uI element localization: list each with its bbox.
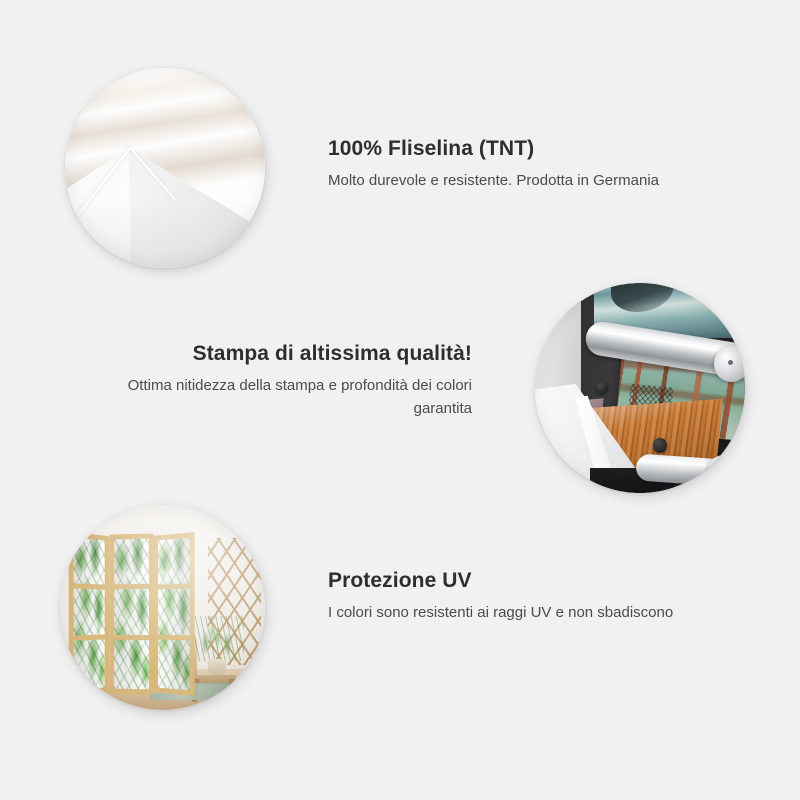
lower-roller-end-cap: [707, 455, 741, 489]
feature-description-stampa: Ottima nitidezza della stampa e profondi…: [112, 375, 472, 420]
roller-end-cap: [714, 346, 746, 382]
wallpaper-roll-peel-photo: [65, 68, 265, 268]
feature-text-uv: Protezione UV I colori sono resistenti a…: [328, 568, 688, 625]
feature-title-stampa: Stampa di altissima qualità!: [112, 341, 472, 366]
feature-description-uv: I colori sono resistenti ai raggi UV e n…: [328, 602, 688, 625]
feature-title-fliselina: 100% Fliselina (TNT): [328, 136, 688, 161]
infographic-canvas: 100% Fliselina (TNT) Molto durevole e re…: [0, 0, 800, 800]
wallpaper-roll-image-inner: [65, 68, 265, 268]
printing-machine-image-inner: [535, 283, 745, 493]
room-divider-image-inner: [60, 505, 265, 710]
tropical-room-divider-photo: [60, 505, 265, 710]
feature-title-uv: Protezione UV: [328, 568, 688, 593]
feature-text-stampa: Stampa di altissima qualità! Ottima niti…: [112, 341, 472, 420]
feature-text-fliselina: 100% Fliselina (TNT) Molto durevole e re…: [328, 136, 688, 193]
roll-highlight-sheen: [65, 68, 265, 132]
feature-description-fliselina: Molto durevole e resistente. Prodotta in…: [328, 170, 688, 193]
roll-bottom-shading: [65, 200, 265, 268]
printing-machine-photo: [535, 283, 745, 493]
room-light-glow: [60, 505, 265, 710]
